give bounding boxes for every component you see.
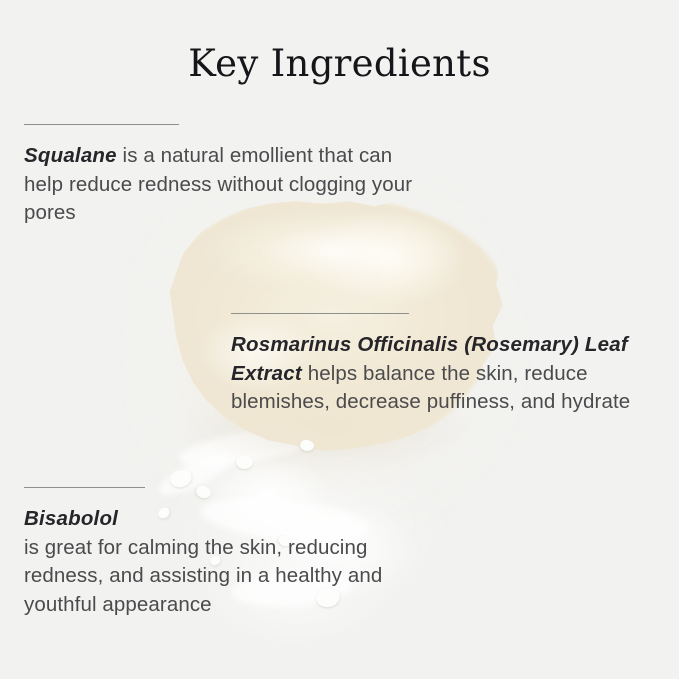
page-title: Key Ingredients [0,45,679,82]
ingredient-divider-1 [24,124,179,125]
ingredient-description: is great for calming the skin, reducing … [24,536,382,616]
ingredient-entry-rosemary: Rosmarinus Officinalis (Rosemary) Leaf E… [231,331,651,417]
ingredient-entry-bisabolol: Bisabololis great for calming the skin, … [24,505,424,619]
ingredients-infographic: Key Ingredients Squalane is a natural em… [0,0,679,679]
ingredient-divider-2 [231,313,409,314]
ingredient-entry-squalane: Squalane is a natural emollient that can… [24,142,424,228]
content-layer: Key Ingredients Squalane is a natural em… [0,0,679,679]
ingredient-term: Squalane [24,144,117,167]
ingredient-term: Bisabolol [24,505,424,534]
ingredient-divider-3 [24,487,145,488]
